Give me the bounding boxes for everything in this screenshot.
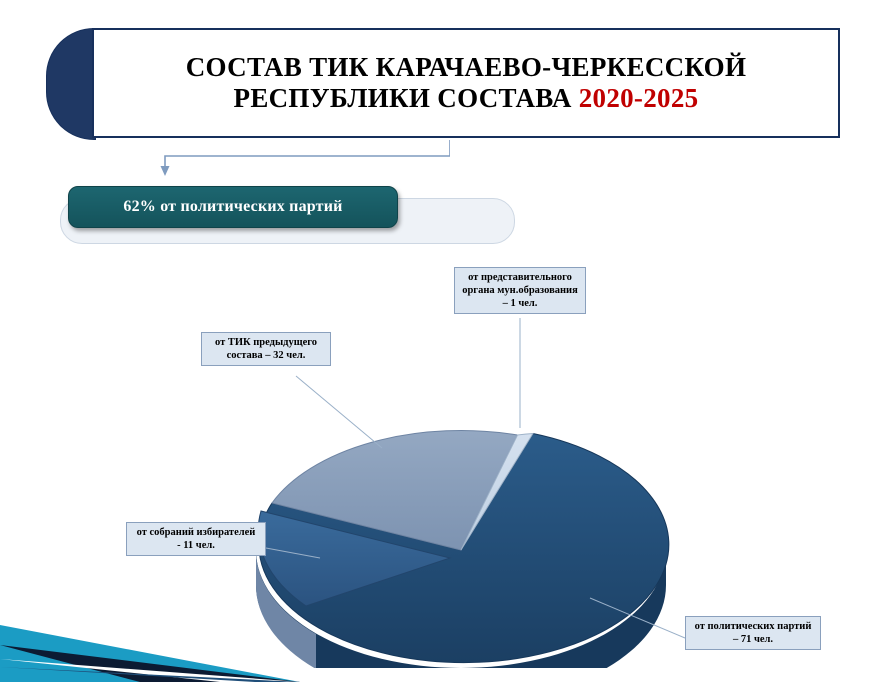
- page-title-years: 2020-2025: [579, 83, 699, 113]
- callout-label: 62% от политических партий: [123, 198, 342, 216]
- pie-label-voter-meetings: от собраний избирателей - 11 чел.: [126, 522, 266, 556]
- pie-label-political-parties: от политических партий – 71 чел.: [685, 616, 821, 650]
- page-title: СОСТАВ ТИК КАРАЧАЕВО-ЧЕРКЕССКОЙ РЕСПУБЛИ…: [176, 52, 757, 114]
- pie-label-representative-body: от представительного органа мун.образова…: [454, 267, 586, 314]
- corner-ribbon-icon: [0, 567, 470, 682]
- page-title-line2: РЕСПУБЛИКИ СОСТАВА: [234, 83, 579, 113]
- title-accent-shape: [46, 28, 96, 140]
- page-title-box: СОСТАВ ТИК КАРАЧАЕВО-ЧЕРКЕССКОЙ РЕСПУБЛИ…: [92, 28, 840, 138]
- page-title-line1: СОСТАВ ТИК КАРАЧАЕВО-ЧЕРКЕССКОЙ: [186, 52, 747, 82]
- pie-label-previous-tik: от ТИК предыдущего состава – 32 чел.: [201, 332, 331, 366]
- down-arrow-icon: [120, 138, 450, 178]
- leader-line-previous-tik: [296, 376, 382, 448]
- callout-badge: 62% от политических партий: [68, 186, 398, 228]
